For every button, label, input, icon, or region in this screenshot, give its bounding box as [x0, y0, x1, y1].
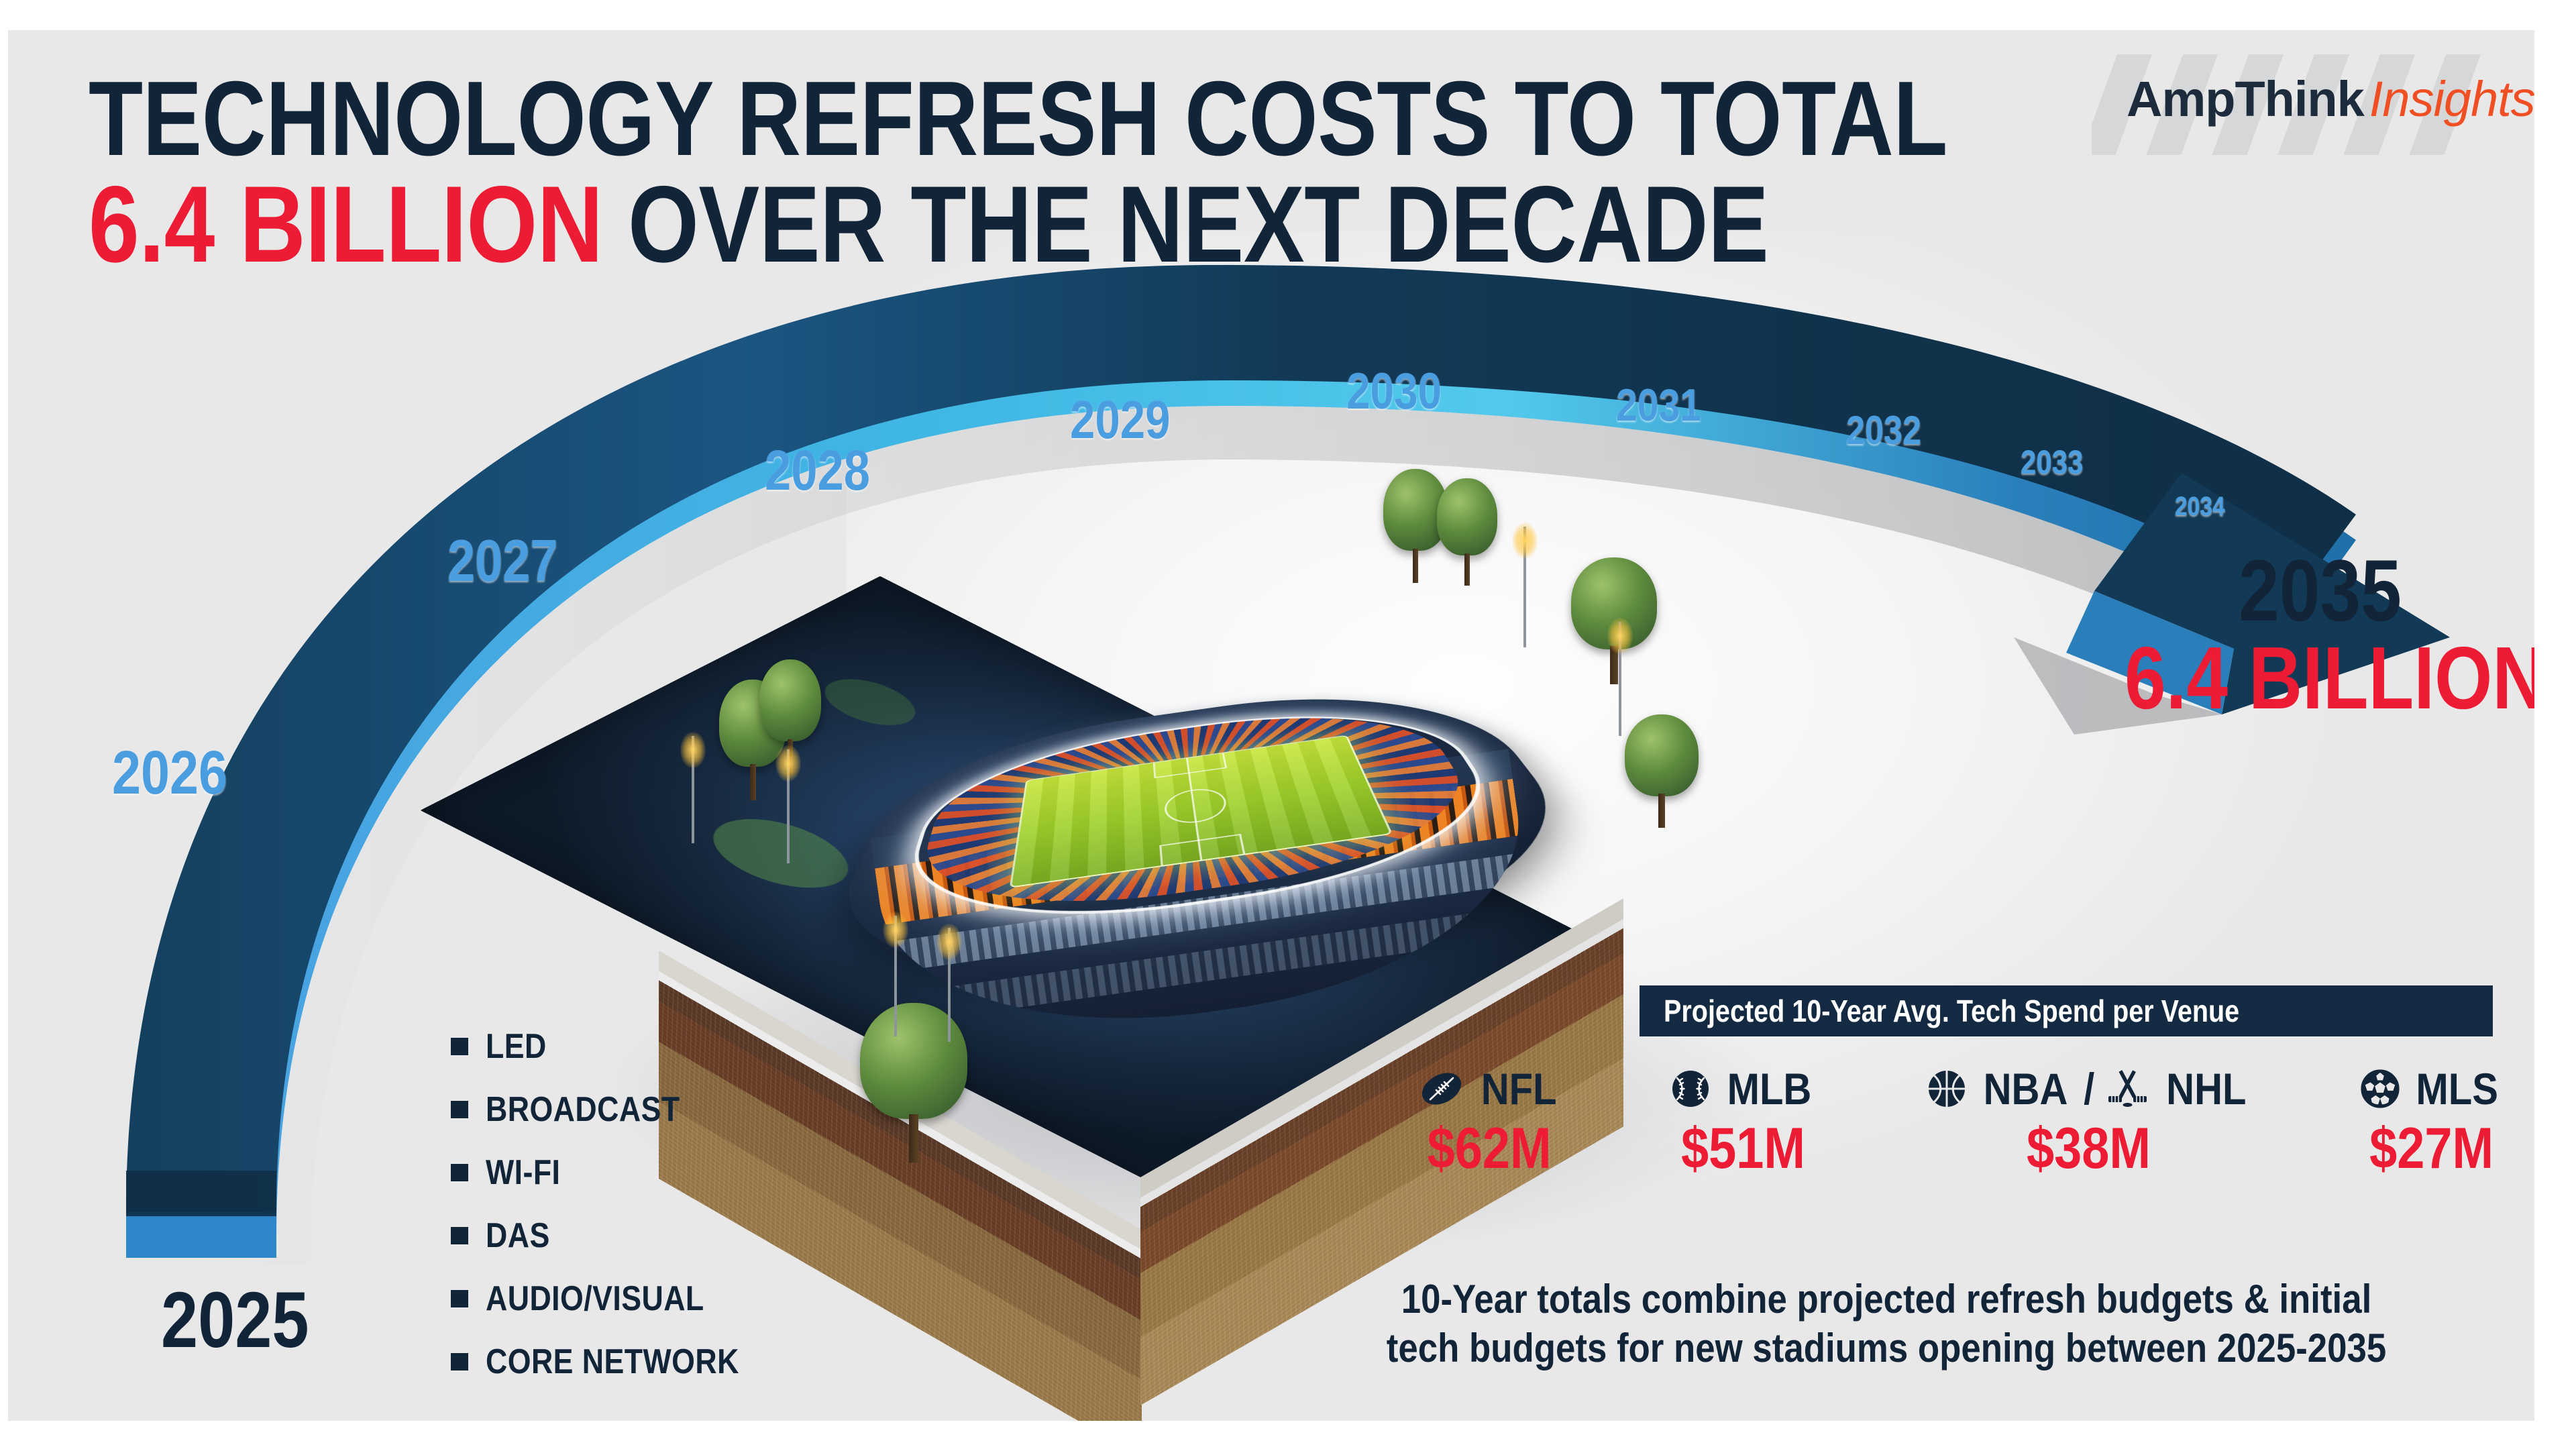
bullet-square-icon — [451, 1164, 468, 1181]
street-lamp-icon — [786, 749, 790, 863]
year-label-2033: 2033 — [2021, 443, 2083, 482]
headline-line-2-rest: OVER THE NEXT DECADE — [628, 164, 1768, 285]
league-name-nba: NBA — [1983, 1063, 2068, 1114]
year-label-2031: 2031 — [1616, 379, 1701, 431]
end-value-label: 6.4 BILLION — [2125, 627, 2534, 729]
stat-mlb: MLB $51M — [1669, 1063, 1817, 1182]
list-item: CORE NETWORK — [451, 1342, 780, 1382]
legend-label-das: DAS — [486, 1216, 550, 1256]
league-value-nba-nhl: $38M — [1948, 1116, 2229, 1182]
year-label-2028: 2028 — [765, 438, 870, 503]
bullet-square-icon — [451, 1038, 468, 1055]
basketball-icon — [1925, 1067, 1968, 1110]
stat-nfl: NFL $62M — [1417, 1063, 1562, 1182]
legend-label-broadcast: BROADCAST — [486, 1089, 680, 1130]
headline-line-2: 6.4 BILLION OVER THE NEXT DECADE — [89, 174, 1779, 274]
footnote-line-1: 10-Year totals combine projected refresh… — [1343, 1275, 2429, 1324]
year-label-2027: 2027 — [447, 527, 557, 595]
league-name-nhl: NHL — [2166, 1063, 2246, 1114]
league-name-mls: MLS — [2416, 1063, 2498, 1114]
logo-secondary-text: Insights — [2369, 71, 2534, 127]
infographic-canvas: TECHNOLOGY REFRESH COSTS TO TOTAL 6.4 BI… — [8, 30, 2534, 1421]
page-title: TECHNOLOGY REFRESH COSTS TO TOTAL 6.4 BI… — [89, 70, 2101, 274]
soccer-ball-icon — [2359, 1068, 2401, 1110]
street-lamp-icon — [894, 916, 898, 1036]
league-value-mlb: $51M — [1680, 1116, 1807, 1182]
year-label-2034: 2034 — [2175, 492, 2225, 522]
list-item: AUDIO/VISUAL — [451, 1279, 780, 1319]
stat-nba-nhl: NBA / NHL $38M — [1925, 1063, 2252, 1182]
league-name-mlb: MLB — [1727, 1063, 1812, 1114]
list-item: LED — [451, 1026, 780, 1067]
legend-label-wifi: WI-FI — [486, 1152, 560, 1193]
footnote-text: 10-Year totals combine projected refresh… — [1269, 1275, 2504, 1373]
year-label-2029: 2029 — [1070, 389, 1170, 451]
tree-icon — [860, 1003, 967, 1164]
league-stats-row: NFL $62M MLB $ — [1417, 1063, 2504, 1182]
year-label-2026: 2026 — [112, 738, 227, 808]
street-lamp-icon — [691, 736, 695, 843]
stats-panel-title: Projected 10-Year Avg. Tech Spend per Ve… — [1664, 993, 2239, 1029]
bullet-square-icon — [451, 1290, 468, 1307]
footnote-line-2: tech budgets for new stadiums opening be… — [1343, 1324, 2429, 1373]
league-separator: / — [2084, 1063, 2094, 1114]
street-lamp-icon — [947, 928, 951, 1042]
headline-line-1: TECHNOLOGY REFRESH COSTS TO TOTAL — [89, 70, 1779, 168]
stat-mls: MLS $27M — [2359, 1063, 2504, 1182]
logo-wordmark: AmpThinkInsights™ — [2127, 74, 2534, 124]
technology-legend-list: LED BROADCAST WI-FI DAS AUDIO/VISUAL COR… — [451, 1026, 780, 1405]
baseball-icon — [1669, 1067, 1712, 1110]
ampthink-insights-logo: AmpThinkInsights™ — [2092, 54, 2508, 155]
list-item: BROADCAST — [451, 1089, 780, 1130]
street-lamp-icon — [1618, 622, 1622, 736]
bullet-square-icon — [451, 1227, 468, 1244]
legend-label-led: LED — [486, 1026, 547, 1067]
league-value-mls: $27M — [2369, 1116, 2493, 1182]
legend-label-audio-visual: AUDIO/VISUAL — [486, 1279, 704, 1319]
headline-amount: 6.4 BILLION — [89, 164, 603, 285]
league-name-nfl: NFL — [1481, 1063, 1557, 1114]
year-label-2032: 2032 — [1846, 407, 1921, 453]
tree-icon — [1625, 714, 1699, 828]
logo-primary-text: AmpThink — [2127, 71, 2364, 127]
year-label-2025: 2025 — [161, 1275, 309, 1366]
year-label-2030: 2030 — [1346, 362, 1442, 421]
list-item: WI-FI — [451, 1152, 780, 1193]
league-value-nfl: $62M — [1427, 1116, 1552, 1182]
tree-icon — [1437, 478, 1497, 586]
legend-label-core-network: CORE NETWORK — [486, 1342, 739, 1382]
football-icon — [1417, 1069, 1466, 1108]
street-lamp-icon — [1523, 527, 1527, 647]
bullet-square-icon — [451, 1353, 468, 1371]
list-item: DAS — [451, 1216, 780, 1256]
stats-panel-header: Projected 10-Year Avg. Tech Spend per Ve… — [1640, 985, 2493, 1036]
hockey-sticks-icon — [2104, 1068, 2151, 1110]
year-label-2035: 2035 — [2239, 540, 2402, 641]
bullet-square-icon — [451, 1101, 468, 1118]
